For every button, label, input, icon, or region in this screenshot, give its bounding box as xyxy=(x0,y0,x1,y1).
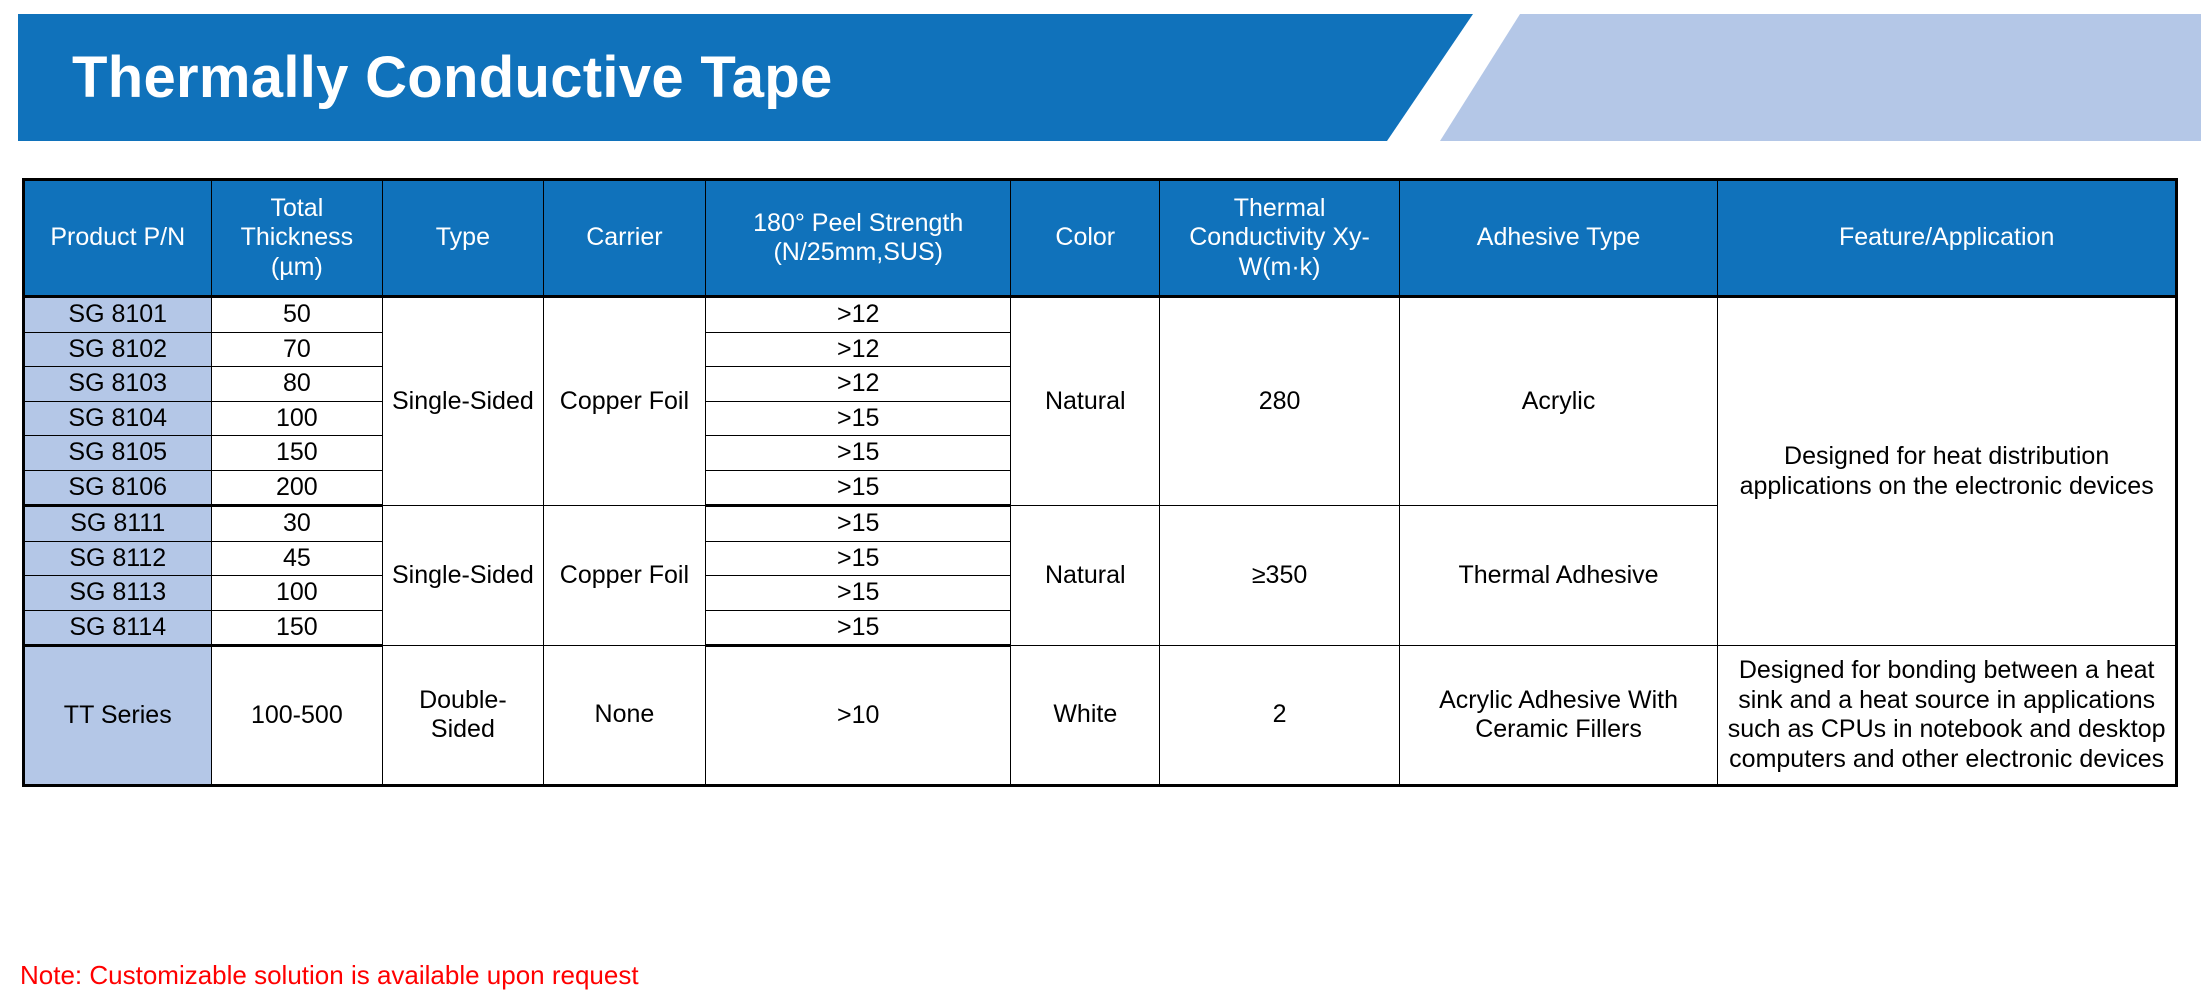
cell-total-thickness: 100-500 xyxy=(211,646,383,786)
note-text: Note: Customizable solution is available… xyxy=(20,960,639,991)
cell-feature-application: Designed for bonding between a heat sink… xyxy=(1718,646,2177,786)
cell-total-thickness: 100 xyxy=(211,576,383,611)
cell-peel-strength: >15 xyxy=(706,541,1011,576)
cell-product-pn: SG 8113 xyxy=(24,576,212,611)
cell-adhesive-type: Thermal Adhesive xyxy=(1399,506,1718,646)
cell-peel-strength: >12 xyxy=(706,367,1011,402)
cell-type: Single-Sided xyxy=(383,297,543,506)
cell-total-thickness: 150 xyxy=(211,436,383,471)
cell-adhesive-type: Acrylic xyxy=(1399,297,1718,506)
col-header-color: Color xyxy=(1011,180,1160,297)
col-header-carrier: Carrier xyxy=(543,180,706,297)
col-header-total-thickness-line2: (µm) xyxy=(217,253,378,283)
banner-accent-shape xyxy=(1440,14,2201,141)
col-header-feature-application: Feature/Application xyxy=(1718,180,2177,297)
cell-thermal-conductivity: 2 xyxy=(1160,646,1399,786)
cell-product-pn: SG 8114 xyxy=(24,610,212,646)
cell-peel-strength: >15 xyxy=(706,506,1011,542)
col-header-thermal-conductivity-line1: Thermal xyxy=(1165,194,1393,224)
cell-product-pn: TT Series xyxy=(24,646,212,786)
cell-peel-strength: >15 xyxy=(706,436,1011,471)
cell-color: Natural xyxy=(1011,297,1160,506)
table-header-row: Product P/N Total Thickness (µm) Type Ca… xyxy=(24,180,2177,297)
cell-product-pn: SG 8111 xyxy=(24,506,212,542)
cell-peel-strength: >15 xyxy=(706,576,1011,611)
cell-product-pn: SG 8102 xyxy=(24,332,212,367)
cell-total-thickness: 30 xyxy=(211,506,383,542)
cell-product-pn: SG 8101 xyxy=(24,297,212,333)
table-body: SG 8101 50 Single-Sided Copper Foil >12 … xyxy=(24,297,2177,786)
cell-total-thickness: 50 xyxy=(211,297,383,333)
cell-product-pn: SG 8106 xyxy=(24,470,212,506)
cell-product-pn: SG 8103 xyxy=(24,367,212,402)
cell-total-thickness: 150 xyxy=(211,610,383,646)
banner-title-block: Thermally Conductive Tape xyxy=(18,14,1473,141)
cell-thermal-conductivity: ≥350 xyxy=(1160,506,1399,646)
cell-carrier: None xyxy=(543,646,706,786)
cell-peel-strength: >12 xyxy=(706,332,1011,367)
page-header-banner: Thermally Conductive Tape xyxy=(0,14,2201,141)
cell-product-pn: SG 8105 xyxy=(24,436,212,471)
col-header-thermal-conductivity: Thermal Conductivity Xy- W(m·k) xyxy=(1160,180,1399,297)
product-spec-table: Product P/N Total Thickness (µm) Type Ca… xyxy=(22,178,2178,787)
cell-total-thickness: 80 xyxy=(211,367,383,402)
cell-peel-strength: >15 xyxy=(706,470,1011,506)
cell-peel-strength: >10 xyxy=(706,646,1011,786)
cell-type: Double-Sided xyxy=(383,646,543,786)
cell-type: Single-Sided xyxy=(383,506,543,646)
cell-peel-strength: >12 xyxy=(706,297,1011,333)
table-header: Product P/N Total Thickness (µm) Type Ca… xyxy=(24,180,2177,297)
col-header-product-pn: Product P/N xyxy=(24,180,212,297)
cell-total-thickness: 70 xyxy=(211,332,383,367)
col-header-type: Type xyxy=(383,180,543,297)
cell-total-thickness: 45 xyxy=(211,541,383,576)
col-header-peel-strength-line2: (N/25mm,SUS) xyxy=(711,238,1005,268)
col-header-adhesive-type: Adhesive Type xyxy=(1399,180,1718,297)
page-title: Thermally Conductive Tape xyxy=(72,44,833,111)
cell-carrier: Copper Foil xyxy=(543,506,706,646)
col-header-thermal-conductivity-line2: Conductivity Xy- xyxy=(1165,223,1393,253)
cell-adhesive-type-line1: Acrylic Adhesive With xyxy=(1405,686,1713,716)
cell-total-thickness: 100 xyxy=(211,401,383,436)
table-row: SG 8101 50 Single-Sided Copper Foil >12 … xyxy=(24,297,2177,333)
col-header-peel-strength-line1: 180° Peel Strength xyxy=(711,209,1005,239)
cell-peel-strength: >15 xyxy=(706,401,1011,436)
cell-adhesive-type: Acrylic Adhesive With Ceramic Fillers xyxy=(1399,646,1718,786)
cell-product-pn: SG 8104 xyxy=(24,401,212,436)
table-row: TT Series 100-500 Double-Sided None >10 … xyxy=(24,646,2177,786)
cell-peel-strength: >15 xyxy=(706,610,1011,646)
col-header-total-thickness-line1: Total Thickness xyxy=(217,194,378,253)
cell-carrier: Copper Foil xyxy=(543,297,706,506)
col-header-total-thickness: Total Thickness (µm) xyxy=(211,180,383,297)
cell-color: White xyxy=(1011,646,1160,786)
cell-thermal-conductivity: 280 xyxy=(1160,297,1399,506)
cell-color: Natural xyxy=(1011,506,1160,646)
cell-adhesive-type-line2: Ceramic Fillers xyxy=(1405,715,1713,745)
cell-total-thickness: 200 xyxy=(211,470,383,506)
cell-feature-application: Designed for heat distribution applicati… xyxy=(1718,297,2177,646)
cell-product-pn: SG 8112 xyxy=(24,541,212,576)
col-header-thermal-conductivity-line3: W(m·k) xyxy=(1165,253,1393,283)
col-header-peel-strength: 180° Peel Strength (N/25mm,SUS) xyxy=(706,180,1011,297)
